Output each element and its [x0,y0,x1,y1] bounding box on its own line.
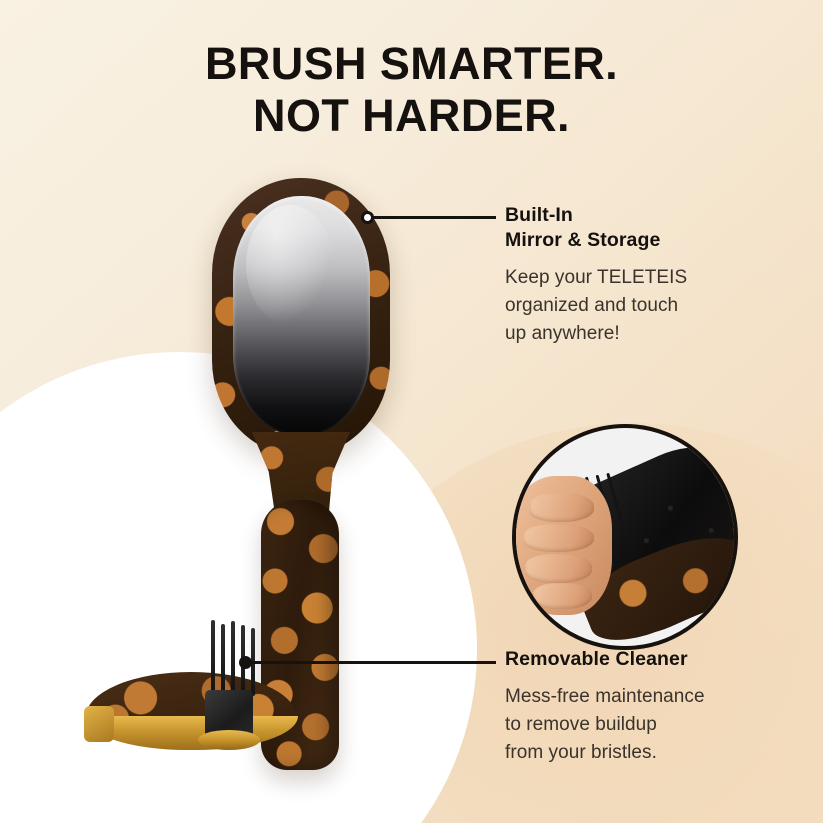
callout-mirror-title-line-1: Built-In [505,204,573,226]
removable-cleaner-gold-ring [198,730,260,750]
inset-finger [523,524,595,552]
inset-finger [529,493,594,521]
callout-mirror-body: Keep your TELETEIS organized and touch u… [505,264,755,348]
inset-finger [525,554,593,582]
callout-cleaner-body-line-2: to remove buildup [505,714,657,735]
callout-mirror-title-line-2: Mirror & Storage [505,229,660,251]
inset-photo-cleaner-demo [512,424,738,650]
callout-cleaner-body: Mess-free maintenance to remove buildup … [505,683,775,767]
callout-mirror-body-line-2: organized and touch [505,295,678,316]
callout-cleaner-body-line-3: from your bristles. [505,742,657,763]
cleaner-tine [211,620,215,696]
brush-mirror-surface [233,196,370,436]
callout-cleaner-body-line-1: Mess-free maintenance [505,686,705,707]
product-marketing-image: BRUSH SMARTER. NOT HARDER. [0,0,823,823]
callout-leader-line-cleaner [251,661,496,664]
storage-base-clasp [84,706,114,742]
callout-removable-cleaner: Removable Cleaner Mess-free maintenance … [505,647,775,767]
callout-mirror-body-line-1: Keep your TELETEIS [505,267,687,288]
cleaner-tine [221,624,225,696]
callout-leader-line-mirror [373,216,496,219]
callout-cleaner-title: Removable Cleaner [505,647,775,672]
callout-mirror-body-line-3: up anywhere! [505,323,620,344]
inset-finger [533,583,592,609]
callout-mirror-storage: Built-In Mirror & Storage Keep your TELE… [505,203,755,348]
callout-mirror-title: Built-In Mirror & Storage [505,203,755,253]
cleaner-tine [231,621,235,696]
callout-cleaner-title-line-1: Removable Cleaner [505,648,688,670]
